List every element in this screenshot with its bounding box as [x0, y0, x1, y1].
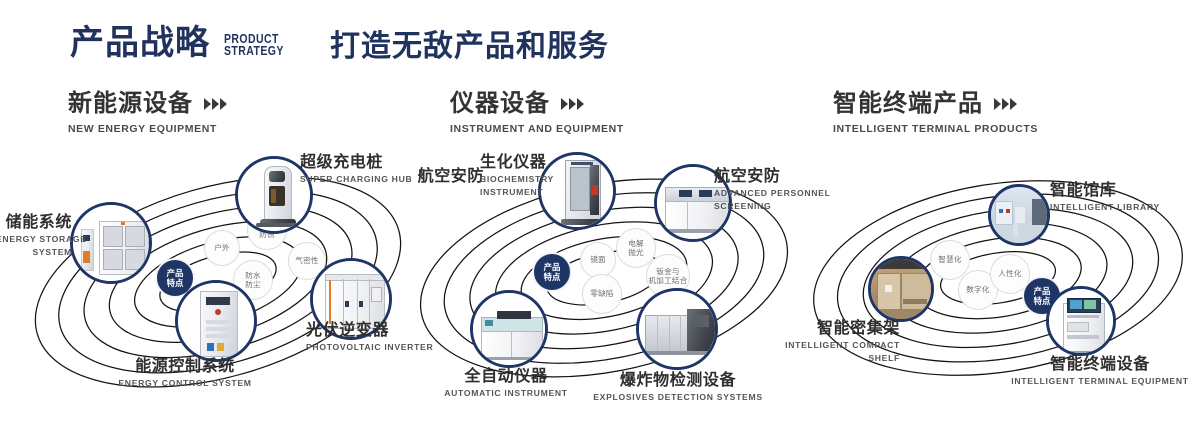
product-strategy-infographic: 产品战略 PRODUCT STRATEGY 打造无敌产品和服务 新能源设备 NE… [0, 0, 1200, 422]
caption-super-charging-hub: 超级充电桩 SUPER CHARGING HUB [300, 154, 412, 185]
caption-aviation-security-left: 航空安防 [400, 168, 484, 186]
cluster-new-energy: 产品 特点 户外 防腐 防锈 防水 防尘 气密性 [20, 150, 420, 420]
section-heading-intelligent-terminal: 智能终端产品 INTELLIGENT TERMINAL PRODUCTS [833, 92, 1038, 135]
page-title-english: PRODUCT STRATEGY [224, 33, 284, 61]
feature-bubble-outdoor: 户外 [204, 230, 240, 266]
cluster-instrument: 产品 特点 镜面 电解 抛光 零缺陷 钣金与 机加工结合 航空安防 [408, 150, 808, 420]
section-title-cn: 智能终端产品 [833, 92, 983, 116]
core-badge-line2: 特点 [544, 272, 561, 282]
section-heading-new-energy: 新能源设备 NEW ENERGY EQUIPMENT [68, 92, 227, 135]
core-badge-line1: 产品 [1034, 286, 1051, 296]
caption-intelligent-terminal-equipment: 智能终端设备 INTELLIGENT TERMINAL EQUIPMENT [1000, 356, 1200, 387]
caption-explosives-detection-systems: 爆炸物检测设备 EXPLOSIVES DETECTION SYSTEMS [588, 372, 768, 403]
core-badge-line1: 产品 [544, 262, 561, 272]
control-cabinet-icon [178, 283, 254, 359]
compact-shelf-icon [871, 259, 931, 319]
node-automatic-instrument[interactable] [470, 290, 548, 368]
caption-energy-control-system: 能源控制系统 ENERGY CONTROL SYSTEM [70, 358, 300, 389]
feature-bubble-zero-defect: 零缺陷 [582, 274, 622, 314]
core-badge-line2: 特点 [1034, 296, 1051, 306]
feature-bubble-mirror-finish: 镜面 [580, 242, 616, 278]
caption-biochemistry-instrument: 生化仪器 BIOCHEMISTRY INSTRUMENT [480, 154, 554, 197]
caption-intelligent-library: 智能馆库 INTELLIGENT LIBRARY [1050, 182, 1160, 213]
core-badge-line1: 产品 [167, 268, 184, 278]
page-title-english-line1: PRODUCT [224, 33, 284, 46]
page-header: 产品战略 PRODUCT STRATEGY [70, 26, 295, 60]
node-intelligent-library[interactable] [988, 184, 1050, 246]
explosives-detector-icon [639, 291, 715, 367]
section-title-en: NEW ENERGY EQUIPMENT [68, 123, 227, 135]
page-title-english-line2: STRATEGY [224, 45, 284, 58]
library-room-icon [991, 187, 1047, 243]
self-service-kiosk-icon [1049, 289, 1113, 353]
section-title-cn: 新能源设备 [68, 92, 193, 116]
chevrons-right-icon [561, 98, 584, 110]
caption-intelligent-compact-shelf: 智能密集架 INTELLIGENT COMPACT SHELF [730, 320, 900, 363]
page-slogan: 打造无敌产品和服务 [330, 32, 609, 62]
section-title-en: INSTRUMENT AND EQUIPMENT [450, 123, 624, 135]
section-heading-instrument: 仪器设备 INSTRUMENT AND EQUIPMENT [450, 92, 624, 135]
caption-automatic-instrument: 全自动仪器 AUTOMATIC INSTRUMENT [394, 368, 618, 399]
page-title: 产品战略 [70, 26, 210, 60]
core-badge-product-features: 产品 特点 [532, 252, 572, 292]
node-energy-control-system[interactable] [175, 280, 257, 362]
chevrons-right-icon [994, 98, 1017, 110]
chevrons-right-icon [204, 98, 227, 110]
caption-energy-storage-system: 储能系统 ENERGY STORAGE SYSTEM [0, 214, 72, 257]
cluster-intelligent-terminal: 智慧化 数字化 人性化 产品 特点 智 [800, 150, 1200, 420]
node-intelligent-terminal-equipment[interactable] [1046, 286, 1116, 356]
automatic-analyzer-icon [473, 293, 545, 365]
section-title-cn: 仪器设备 [450, 92, 550, 116]
node-explosives-detection-systems[interactable] [636, 288, 718, 370]
section-title-en: INTELLIGENT TERMINAL PRODUCTS [833, 123, 1038, 135]
node-intelligent-compact-shelf[interactable] [868, 256, 934, 322]
